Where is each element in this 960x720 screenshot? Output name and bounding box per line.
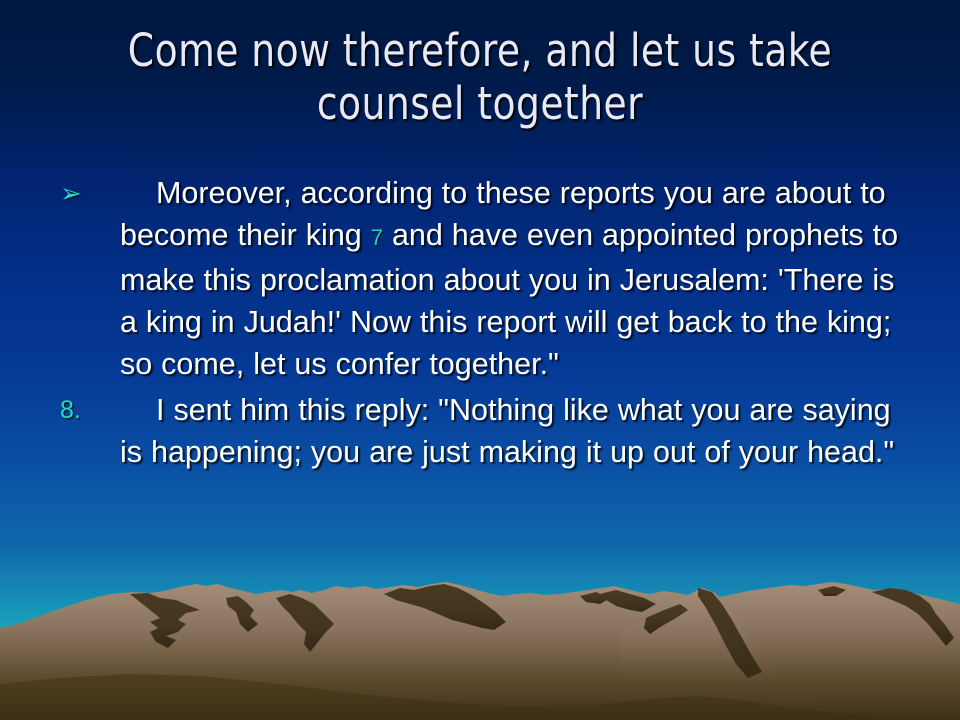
presentation-slide: Come now therefore, and let us take coun… (0, 0, 960, 720)
bullet-paragraph-1: ➢ Moreover, according to these reports y… (52, 172, 908, 385)
slide-title: Come now therefore, and let us take coun… (78, 24, 882, 130)
arrow-bullet-icon: ➢ (60, 172, 112, 214)
list-number-8: 8. (60, 389, 112, 431)
verse-number-7: 7 (371, 225, 383, 250)
mountain-landscape-graphic (0, 580, 960, 720)
bullet-paragraph-2: 8. I sent him this reply: "Nothing like … (52, 389, 908, 473)
paragraph-2-text: I sent him this reply: "Nothing like wha… (120, 393, 894, 469)
slide-body: ➢ Moreover, according to these reports y… (52, 172, 908, 473)
